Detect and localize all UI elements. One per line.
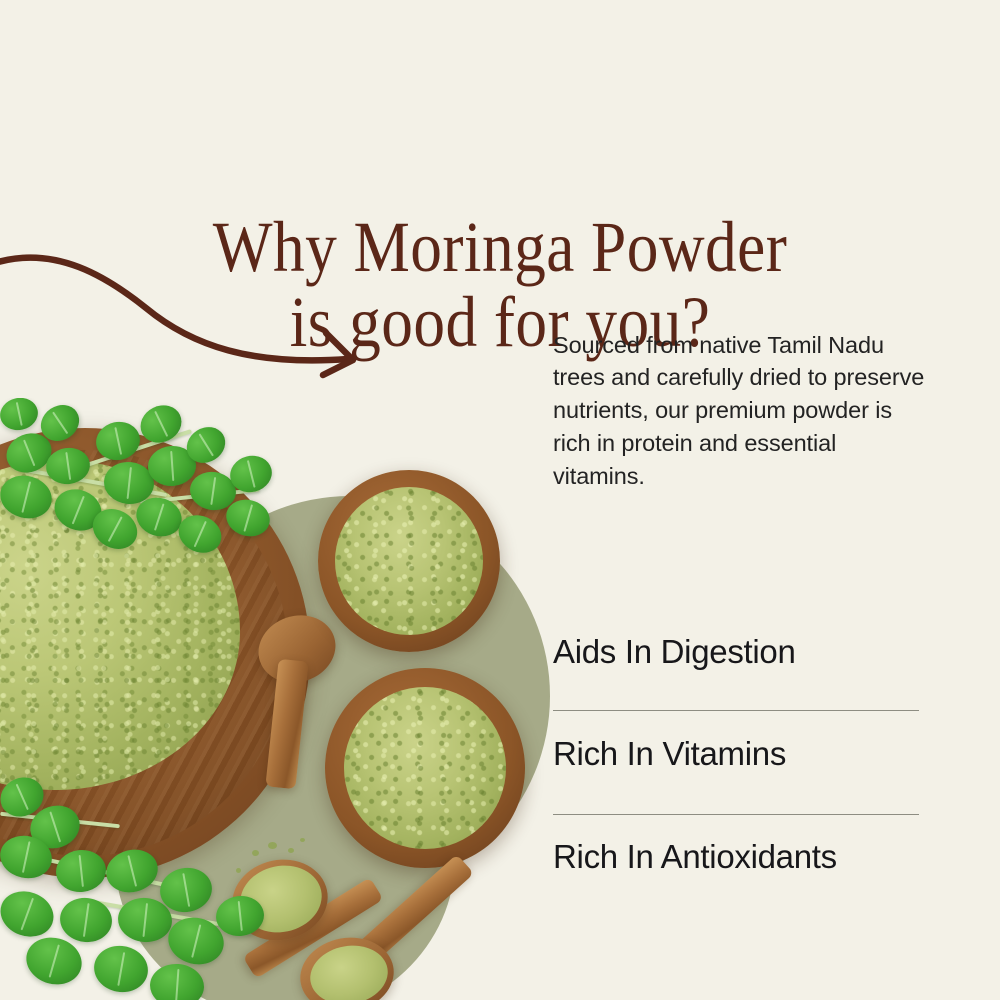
bowl-powder-texture [335, 487, 483, 635]
powder-sprinkle [300, 838, 305, 842]
small-wooden-bowl-upper [318, 470, 500, 652]
powder-sprinkle [236, 868, 241, 873]
powder-sprinkle [268, 842, 277, 849]
powder-sprinkle [252, 850, 259, 856]
small-wooden-bowl-lower [325, 668, 525, 868]
benefit-item-vitamins[interactable]: Rich In Vitamins [553, 734, 786, 774]
benefit-divider [553, 710, 919, 711]
photo-composition [0, 398, 560, 1000]
moringa-leaf [0, 398, 41, 434]
moringa-leaf [90, 942, 151, 997]
poster-canvas: Why Moringa Powder is good for you? Sour… [0, 0, 1000, 1000]
bowl-powder-texture [344, 687, 506, 849]
curved-arrow-icon [0, 236, 396, 396]
moringa-leaf [0, 884, 60, 944]
benefit-item-digestion[interactable]: Aids In Digestion [553, 632, 796, 672]
benefit-item-antioxidants[interactable]: Rich In Antioxidants [553, 837, 837, 877]
powder-sprinkle [288, 848, 294, 853]
product-photo [0, 398, 560, 1000]
benefit-divider [553, 814, 919, 815]
description-paragraph: Sourced from native Tamil Nadu trees and… [553, 329, 925, 493]
